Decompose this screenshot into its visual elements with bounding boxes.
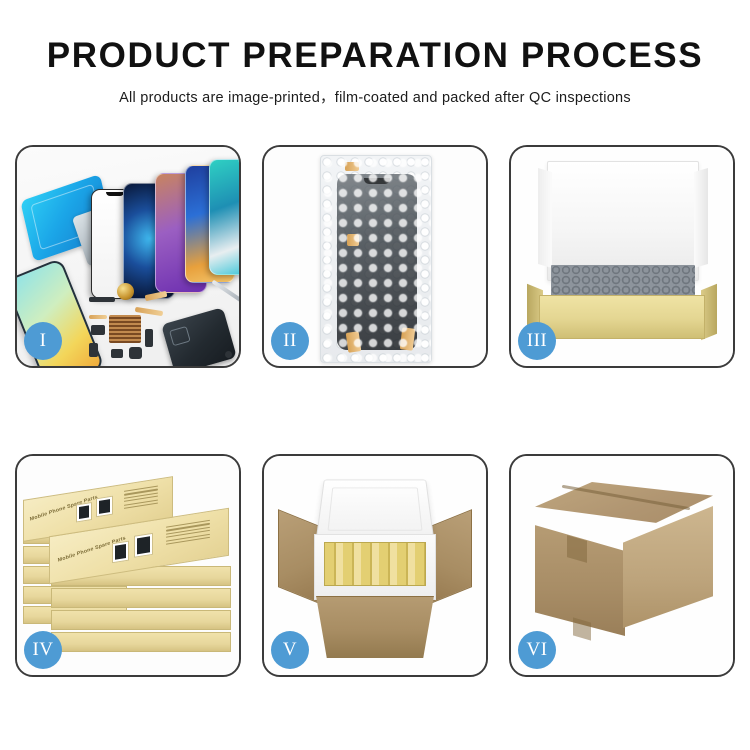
tweezers-icon (211, 280, 239, 307)
page-title: PRODUCT PREPARATION PROCESS (0, 38, 750, 75)
page-subtitle: All products are image-printed，film-coat… (0, 86, 750, 107)
sealed-carton-icon (531, 482, 717, 648)
step-badge-5: V (271, 631, 309, 669)
box-window-icon (134, 533, 153, 558)
step-badge-3: III (518, 322, 556, 360)
kraft-box-front-icon (539, 295, 705, 339)
step-panel-5: V (262, 454, 488, 677)
tape-strip-icon (400, 327, 416, 350)
grey-bubble-padding-icon (551, 265, 695, 297)
foam-lid-icon (316, 480, 435, 541)
page-header: PRODUCT PREPARATION PROCESS All products… (0, 38, 750, 107)
box-window-icon (112, 541, 129, 564)
step-panel-6: VI (509, 454, 735, 677)
part-block-icon (91, 325, 105, 335)
speaker-coin-icon (117, 283, 134, 300)
flex-cable-icon (145, 291, 168, 301)
step-panel-1: I (15, 145, 241, 368)
step-panel-4: Mobile Phone Spare Parts Mobile Phone Sp… (15, 454, 241, 677)
white-box-lid-icon (547, 161, 699, 281)
box-window-icon (96, 496, 113, 518)
process-step-grid: I II (15, 145, 735, 677)
part-sim-icon (89, 343, 98, 357)
packed-boxes-icon (324, 542, 426, 586)
notch-icon (106, 192, 124, 196)
phone-teal-screen-icon (209, 159, 239, 275)
tape-strip-icon (347, 234, 359, 246)
screw-icon (225, 351, 232, 358)
step-badge-2: II (271, 322, 309, 360)
carton-right-face-icon (623, 506, 713, 628)
part-strip-icon (89, 297, 115, 302)
part-small-icon (111, 349, 123, 358)
box-window-icon (76, 502, 92, 523)
chip-array-icon (109, 315, 141, 343)
bubble-wrap-bag-icon (320, 155, 432, 363)
step-badge-4: IV (24, 631, 62, 669)
stacked-box-edge (51, 588, 231, 608)
step-panel-2: II (262, 145, 488, 368)
step-badge-1: I (24, 322, 62, 360)
carton-left-face-icon (535, 518, 625, 636)
phone-lineup-group (91, 159, 239, 299)
step-badge-6: VI (518, 631, 556, 669)
box-spec-lines (124, 485, 158, 511)
box-spec-lines (166, 520, 210, 547)
tape-strip-icon (346, 331, 362, 353)
carton-front-face-icon (308, 596, 442, 658)
battery-part-icon (145, 329, 153, 347)
product-preparation-page: PRODUCT PREPARATION PROCESS All products… (0, 0, 750, 750)
wrapped-screen-icon (337, 174, 417, 350)
carton-tape-icon (573, 617, 591, 640)
spare-parts-group (89, 279, 239, 366)
tape-strip-icon (345, 162, 359, 171)
camera-module-icon (129, 347, 142, 359)
flex-cable-icon (89, 315, 107, 319)
stacked-box-edge (51, 632, 231, 652)
stacked-box-edge (51, 610, 231, 630)
step-panel-3: III (509, 145, 735, 368)
